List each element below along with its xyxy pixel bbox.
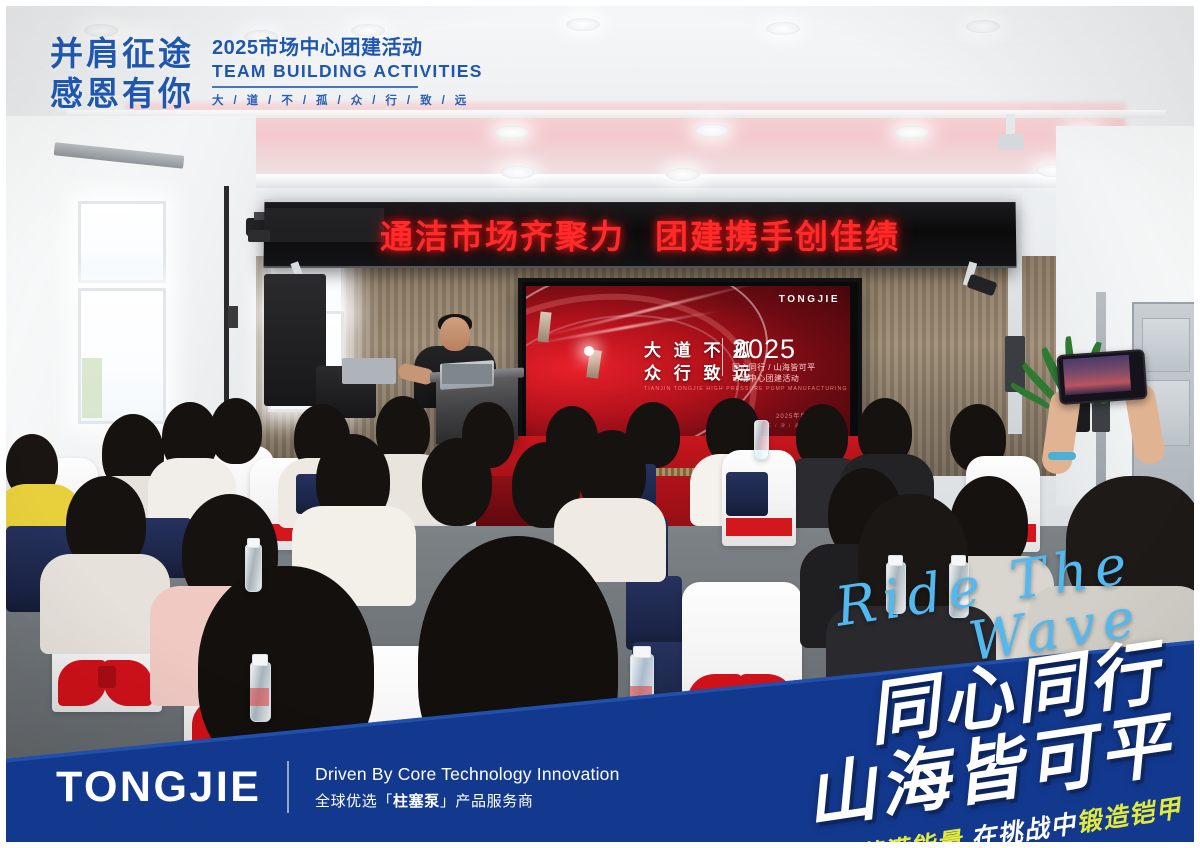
footer-tagline-cn-prefix: 全球优选「: [315, 793, 393, 810]
header-tagline: 大 / 道 / 不 / 孤 / 众 / 行 / 致 / 远: [212, 92, 483, 108]
footer-tagline-cn: 全球优选「柱塞泵」产品服务商: [315, 790, 620, 814]
poster-header: 并肩征途 感恩有你 2025市场中心团建活动 TEAM BUILDING ACT…: [50, 34, 483, 115]
poster-canvas: 通洁市场齐聚力 团建携手创佳绩 TONGJIE 大 道 不 孤: [0, 0, 1200, 848]
chair-bow-knot: [98, 666, 116, 688]
footer-tagline-en: Driven By Core Technology Innovation: [315, 761, 620, 787]
header-slogan: 并肩征途 感恩有你: [50, 34, 194, 115]
led-banner-text: 通洁市场齐聚力 团建携手创佳绩: [264, 202, 1017, 266]
laptop-screen: [442, 364, 492, 384]
header-title-en: TEAM BUILDING ACTIVITIES: [212, 60, 483, 83]
footer-taglines: Driven By Core Technology Innovation 全球优…: [315, 761, 620, 814]
footer-brand-name: TONGJIE: [56, 766, 261, 809]
bottle-cap: [633, 646, 651, 658]
downlight-icon: [666, 168, 700, 181]
wristband: [1048, 452, 1076, 460]
headline-sub-part1: 在欢愉里: [750, 843, 859, 848]
window-foliage: [82, 358, 102, 418]
headline-sub-part2: 在挑战中: [969, 810, 1078, 848]
bottle-label: [250, 688, 269, 706]
door-panel-upper: [1142, 318, 1190, 372]
water-bottle: [245, 544, 262, 592]
footer-tagline-cn-product: 柱塞泵: [393, 793, 440, 810]
audience-head: [210, 398, 262, 464]
header-title-block: 2025市场中心团建活动 TEAM BUILDING ACTIVITIES 大 …: [212, 34, 483, 108]
header-rule: [212, 86, 418, 88]
downlight-icon: [895, 126, 929, 139]
ceiling-trim-lower: [106, 174, 1166, 188]
footer-divider: [287, 761, 289, 813]
downlight-icon: [766, 22, 800, 35]
ceiling-camera-icon: [998, 134, 1024, 150]
wall-switch-panel: [228, 306, 238, 328]
slide-subtitle-1: 同心同行 / 山海皆可平: [732, 362, 815, 373]
smartphone-screen: [1063, 355, 1131, 396]
slide-divider: [722, 338, 723, 376]
header-slogan-line2: 感恩有你: [50, 74, 194, 114]
downlight-icon: [495, 126, 529, 139]
slide-subtitle-2: 市场中心团建活动: [732, 373, 799, 384]
slide-brand-logo: TONGJIE: [779, 294, 840, 305]
led-banner: 通洁市场齐聚力 团建携手创佳绩: [263, 199, 1016, 268]
bottle-cap: [888, 555, 903, 566]
slide-year: 2025: [732, 334, 796, 365]
bottle-cap: [247, 538, 260, 548]
audience-head: [422, 438, 492, 526]
downlight-icon: [966, 20, 1000, 33]
downlight-icon: [501, 166, 535, 179]
presenter-head: [440, 317, 470, 351]
slide-light-flare: [584, 346, 594, 356]
footer-tagline-cn-suffix: 」产品服务商: [440, 793, 534, 810]
header-title-cn: 2025市场中心团建活动: [212, 37, 483, 60]
led-side-box: [248, 230, 270, 242]
water-bottle: [754, 420, 769, 460]
headline-sub-highlight1: 蓄满能量: [855, 827, 964, 848]
slide-company-english: TIANJIN TONGJIE HIGH PRESSURE PUMP MANUF…: [644, 386, 850, 392]
chair-back-navy: [626, 576, 682, 650]
downlight-icon: [695, 124, 729, 137]
footer-brand: TONGJIE Driven By Core Technology Innova…: [56, 761, 620, 814]
header-slogan-line1: 并肩征途: [50, 34, 194, 74]
downlight-icon: [566, 18, 600, 31]
chair-bow: [726, 518, 792, 536]
av-monitor: [342, 358, 396, 384]
led-text-left: 通洁市场齐聚力: [380, 210, 625, 258]
chair-back-navy: [726, 472, 768, 516]
led-text-right: 团建携手创佳绩: [655, 210, 900, 258]
window-upper: [78, 201, 166, 283]
bottle-cap: [252, 654, 268, 666]
wall-column-dark: [224, 186, 229, 416]
